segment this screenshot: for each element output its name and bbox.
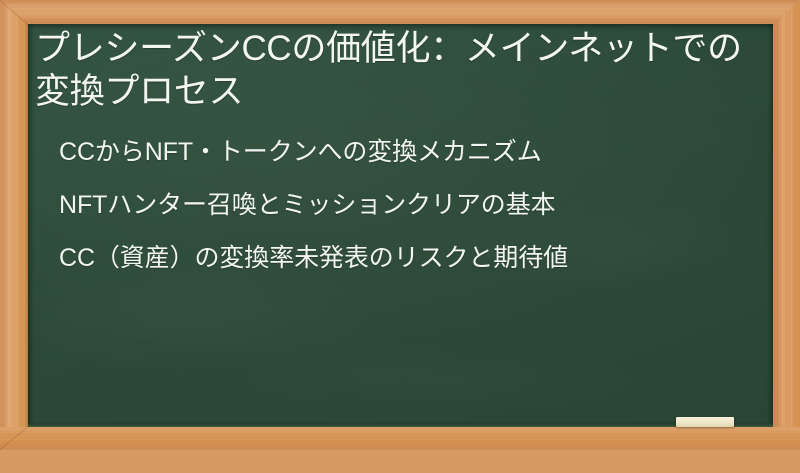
bullet-item-3: CC（資産）の変換率未発表のリスクと期待値 bbox=[59, 246, 759, 271]
frame-top-wood bbox=[0, 0, 800, 24]
slide-bullet-list: CCからNFT・トークンへの変換メカニズム NFTハンター召喚とミッションクリア… bbox=[35, 113, 759, 271]
frame-left-wood bbox=[0, 0, 28, 450]
chalkboard-bottom-lip bbox=[28, 424, 773, 427]
bullet-item-2: NFTハンター召喚とミッションクリアの基本 bbox=[59, 193, 759, 218]
chalk-eraser-icon bbox=[676, 417, 734, 427]
frame-bottom-wood bbox=[0, 427, 800, 450]
chalkboard-slide: プレシーズンCCの価値化：メインネットでの変換プロセス CCからNFT・トークン… bbox=[0, 0, 800, 450]
slide-title: プレシーズンCCの価値化：メインネットでの変換プロセス bbox=[35, 28, 759, 113]
chalkboard-surface: プレシーズンCCの価値化：メインネットでの変換プロセス CCからNFT・トークン… bbox=[28, 24, 773, 427]
bullet-item-1: CCからNFT・トークンへの変換メカニズム bbox=[59, 140, 759, 165]
frame-right-wood bbox=[773, 0, 800, 450]
board-content: プレシーズンCCの価値化：メインネットでの変換プロセス CCからNFT・トークン… bbox=[28, 24, 773, 271]
